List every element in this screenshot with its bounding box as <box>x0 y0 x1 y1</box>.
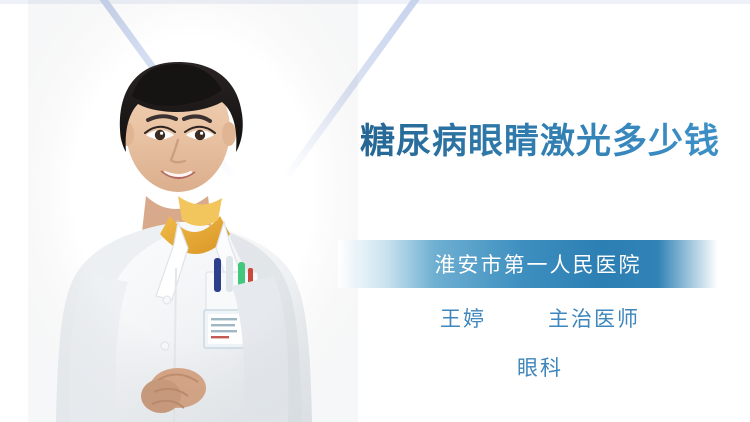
doctor-title: 主治医师 <box>548 303 640 333</box>
info-column: 糖尿病眼睛激光多少钱 淮安市第一人民医院 王婷 主治医师 眼科 <box>330 0 750 422</box>
page-title: 糖尿病眼睛激光多少钱 <box>330 118 750 166</box>
doctor-credentials-row: 王婷 主治医师 <box>330 303 750 333</box>
doctor-portrait-illustration <box>28 0 358 422</box>
hospital-name-banner: 淮安市第一人民医院 <box>338 240 738 288</box>
doctor-info-card: 糖尿病眼睛激光多少钱 淮安市第一人民医院 王婷 主治医师 眼科 <box>0 0 750 422</box>
hospital-name-label: 淮安市第一人民医院 <box>435 249 642 279</box>
doctor-name: 王婷 <box>440 303 486 333</box>
doctor-department: 眼科 <box>330 352 750 382</box>
doctor-photo <box>28 0 358 422</box>
